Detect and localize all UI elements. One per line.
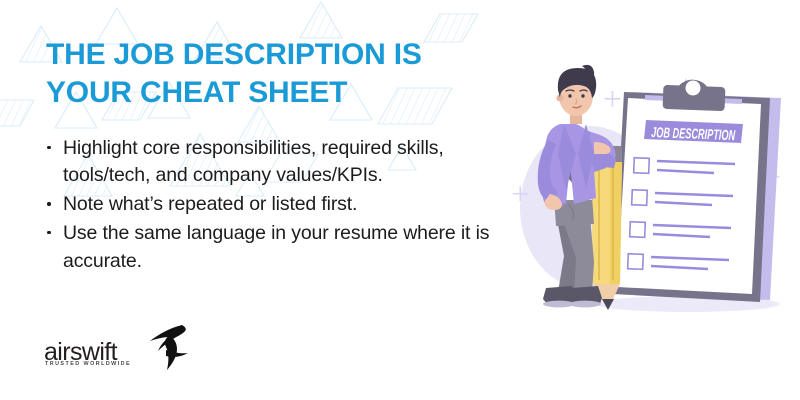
list-item: Highlight core responsibilities, require… bbox=[46, 135, 516, 190]
slide-canvas: THE JOB DESCRIPTION IS YOUR CHEAT SHEET … bbox=[0, 0, 800, 400]
pencil-body-highlight bbox=[610, 162, 622, 284]
airswift-logo: airswift TRUSTED WORLDWIDE bbox=[44, 322, 194, 378]
clipboard-title-banner: JOB DESCRIPTION bbox=[644, 120, 743, 144]
logo-tagline: TRUSTED WORLDWIDE bbox=[45, 362, 131, 367]
list-item: Note what’s repeated or listed first. bbox=[46, 191, 516, 219]
eye-right bbox=[581, 94, 584, 97]
shoe-front-sole bbox=[569, 301, 601, 308]
illustration-job-description-clipboard: JOB DESCRIPTION bbox=[498, 58, 798, 318]
list-item: Use the same language in your resume whe… bbox=[46, 220, 516, 275]
tips-list: Highlight core responsibilities, require… bbox=[46, 135, 516, 275]
clip-hole bbox=[686, 81, 701, 96]
swift-bird-icon bbox=[136, 322, 194, 372]
text-content: THE JOB DESCRIPTION IS YOUR CHEAT SHEET … bbox=[46, 36, 516, 276]
clipboard: JOB DESCRIPTION bbox=[596, 80, 781, 312]
sparkle-icon bbox=[605, 91, 621, 107]
page-title: THE JOB DESCRIPTION IS YOUR CHEAT SHEET bbox=[46, 36, 516, 113]
clipboard-title: JOB DESCRIPTION bbox=[651, 125, 736, 144]
eye-left bbox=[568, 94, 571, 97]
headline-line-1: THE JOB DESCRIPTION IS bbox=[46, 36, 516, 74]
headline-line-2: YOUR CHEAT SHEET bbox=[46, 74, 516, 112]
